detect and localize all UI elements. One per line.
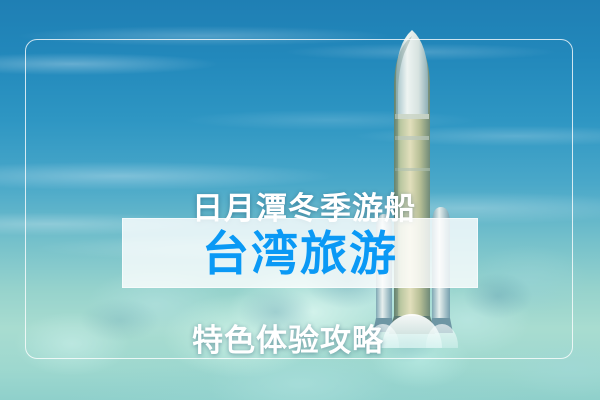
category-banner: 台湾旅游 — [122, 218, 478, 288]
category-banner-label: 台湾旅游 — [202, 230, 398, 277]
travel-poster: 日月潭冬季游船 特色体验攻略 台湾旅游 — [0, 0, 600, 400]
headline-line-2: 特色体验攻略 — [192, 319, 522, 363]
